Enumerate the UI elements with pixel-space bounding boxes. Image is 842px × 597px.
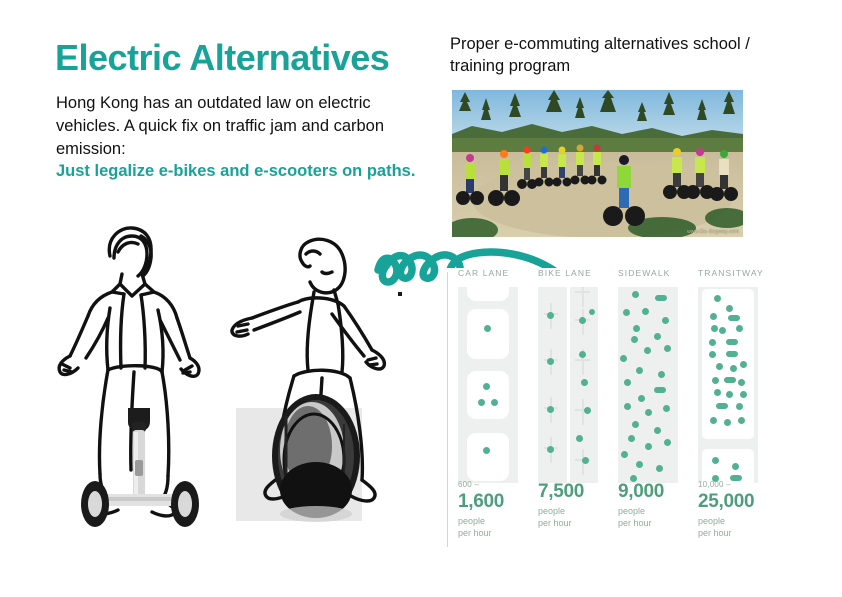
unit-line-2: per hour <box>458 528 492 538</box>
lane-strip-transitway <box>698 287 758 483</box>
photo-illustration <box>452 90 743 237</box>
lane-strip-bike <box>538 287 598 483</box>
slide-canvas: Electric Alternatives Hong Kong has an o… <box>0 0 842 597</box>
stat-value-sidewalk: 9,000 <box>618 481 693 503</box>
car-shape <box>467 309 509 359</box>
lane-column-car: CAR LANE <box>458 268 528 483</box>
person-dot <box>579 351 586 358</box>
right-heading: Proper e-commuting alternatives school /… <box>450 33 750 78</box>
person-dot <box>483 383 490 390</box>
stat-unit-bike: people per hour <box>538 506 613 529</box>
person-dot <box>582 457 589 464</box>
stat-range-transitway: 10,000 – <box>698 480 773 490</box>
body-lead: Hong Kong has an outdated law on electri… <box>56 92 436 160</box>
unit-line-1: people <box>698 516 725 526</box>
stat-range-car: 600 – <box>458 480 533 490</box>
bike-lane-left <box>538 287 567 483</box>
person-dot <box>589 309 595 315</box>
person-dot <box>584 407 591 414</box>
bike-frame <box>582 287 584 307</box>
page-title: Electric Alternatives <box>55 37 389 79</box>
body-text: Hong Kong has an outdated law on electri… <box>56 92 436 183</box>
person-dot <box>478 399 485 406</box>
transit-vehicle <box>702 449 754 483</box>
lane-label-sidewalk: SIDEWALK <box>618 268 688 278</box>
unit-line-2: per hour <box>698 528 732 538</box>
person-dot <box>547 406 554 413</box>
segway-rider-sketch <box>48 222 238 540</box>
person-dot <box>483 447 490 454</box>
bike-handlebar <box>575 359 590 361</box>
unit-line-1: people <box>618 506 645 516</box>
lane-strip-car <box>458 287 518 483</box>
stat-unit-sidewalk: people per hour <box>618 506 693 529</box>
unit-line-1: people <box>538 506 565 516</box>
stray-mark <box>398 292 402 296</box>
lane-label-car: CAR LANE <box>458 268 528 278</box>
bike-lane-right <box>570 287 599 483</box>
unit-line-2: per hour <box>538 518 572 528</box>
lane-label-bike: BIKE LANE <box>538 268 608 278</box>
unicycle-rider-drawing <box>228 228 408 523</box>
lane-capacity-infographic: CAR LANE BIKE LANE <box>440 268 770 560</box>
stat-unit-car: people per hour <box>458 516 533 539</box>
stat-value-bike: 7,500 <box>538 481 613 503</box>
bike-handlebar <box>575 291 590 293</box>
person-dot <box>581 379 588 386</box>
segway-training-photo: www.Go-Segway.com <box>452 90 743 237</box>
person-dot <box>547 312 554 319</box>
lane-strip-sidewalk <box>618 287 678 483</box>
lane-column-sidewalk: SIDEWALK <box>618 268 688 483</box>
person-dot <box>491 399 498 406</box>
segway-rider-drawing <box>48 222 238 540</box>
infographic-divider <box>447 272 448 547</box>
body-highlight: Just legalize e-bikes and e-scooters on … <box>56 160 436 183</box>
stat-transitway: 10,000 – 25,000 people per hour <box>698 480 773 539</box>
photo-credit: www.Go-Segway.com <box>687 229 739 235</box>
stat-value-car: 1,600 <box>458 491 533 513</box>
lane-column-bike: BIKE LANE <box>538 268 608 483</box>
bike-frame <box>582 399 584 425</box>
unit-line-1: people <box>458 516 485 526</box>
car-shape <box>467 371 509 419</box>
unit-line-2: per hour <box>618 518 652 528</box>
car-shape <box>467 433 509 481</box>
lane-label-transitway: TRANSITWAY <box>698 268 768 278</box>
car-shape <box>467 287 509 301</box>
unicycle-rider-sketch <box>228 228 408 523</box>
person-dot <box>547 446 554 453</box>
stat-sidewalk: 9,000 people per hour <box>618 480 693 529</box>
person-dot <box>576 435 583 442</box>
person-dot <box>547 358 554 365</box>
person-dot <box>579 317 586 324</box>
stat-bike: 7,500 people per hour <box>538 480 613 529</box>
lane-column-transitway: TRANSITWAY <box>698 268 768 483</box>
stat-car: 600 – 1,600 people per hour <box>458 480 533 539</box>
stat-value-transitway: 25,000 <box>698 491 773 513</box>
stat-unit-transitway: people per hour <box>698 516 773 539</box>
person-dot <box>484 325 491 332</box>
